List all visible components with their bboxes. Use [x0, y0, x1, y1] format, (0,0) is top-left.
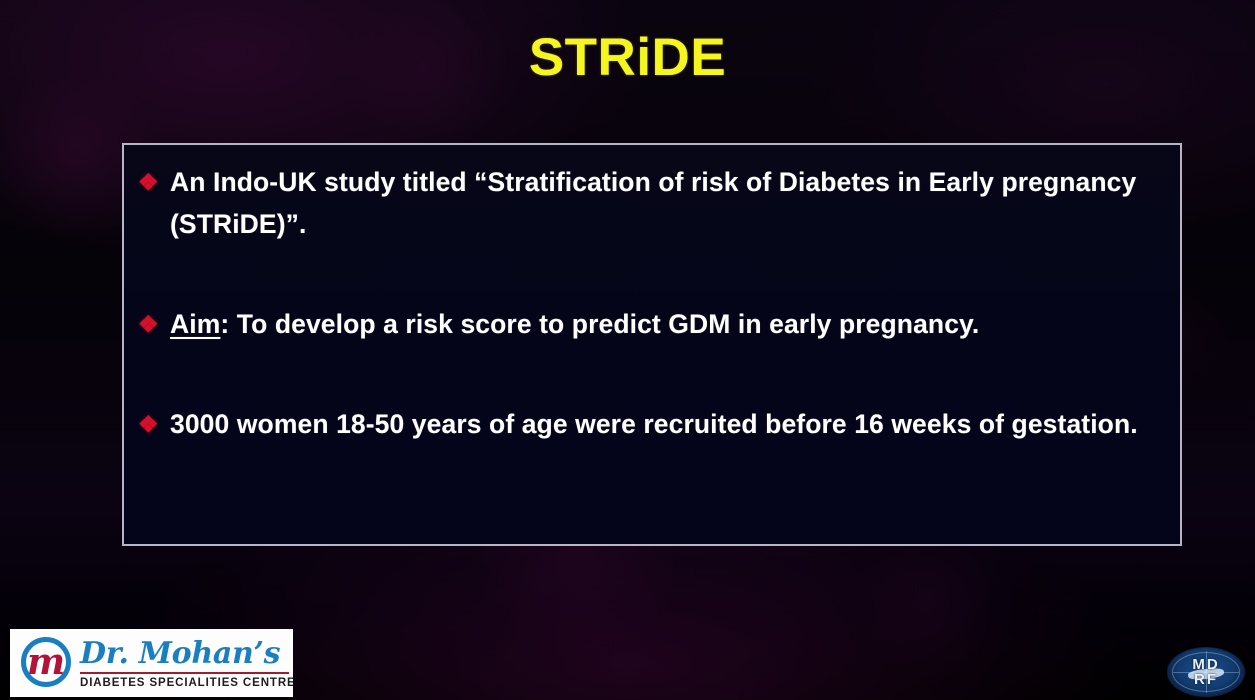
bullet-text-aim: Aim: To develop a risk score to predict … [170, 303, 1166, 345]
list-item-aim: ❖ Aim: To develop a risk score to predic… [138, 303, 1166, 345]
drmohans-logo: m Dr. Mohan’s DIABETES SPECIALITIES CENT… [10, 629, 293, 697]
mdrf-letters-bottom: RF [1194, 672, 1218, 687]
content-box: ❖ An Indo-UK study titled “Stratificatio… [122, 143, 1182, 546]
mdrf-letters: MD RF [1168, 648, 1244, 696]
presentation-slide: STRiDE ❖ An Indo-UK study titled “Strati… [0, 0, 1255, 700]
page-title: STRiDE [0, 30, 1255, 86]
aim-label: Aim [170, 309, 220, 339]
logo-divider [80, 672, 289, 674]
mdrf-letters-top: MD [1192, 657, 1219, 672]
drmohans-logo-text: Dr. Mohan’s DIABETES SPECIALITIES CENTRE [78, 637, 293, 690]
drmohans-subtitle: DIABETES SPECIALITIES CENTRE [80, 676, 289, 690]
diamond-bullet-icon: ❖ [138, 161, 170, 203]
list-item-study-title: ❖ An Indo-UK study titled “Stratificatio… [138, 161, 1166, 245]
monogram-letter: m [16, 637, 76, 687]
bullet-list: ❖ An Indo-UK study titled “Stratificatio… [138, 161, 1166, 445]
list-item-recruitment: ❖ 3000 women 18-50 years of age were rec… [138, 403, 1166, 445]
bullet-text-study-title: An Indo-UK study titled “Stratification … [170, 161, 1166, 245]
aim-description: : To develop a risk score to predict GDM… [220, 309, 979, 339]
drmohans-monogram-icon: m [16, 634, 78, 692]
drmohans-script-name: Dr. Mohan’s [80, 637, 289, 671]
mdrf-seal-icon: MD RF [1167, 647, 1245, 697]
bullet-text-recruitment: 3000 women 18-50 years of age were recru… [170, 403, 1166, 445]
mdrf-logo: MD RF [1167, 647, 1245, 697]
diamond-bullet-icon: ❖ [138, 403, 170, 445]
diamond-bullet-icon: ❖ [138, 303, 170, 345]
